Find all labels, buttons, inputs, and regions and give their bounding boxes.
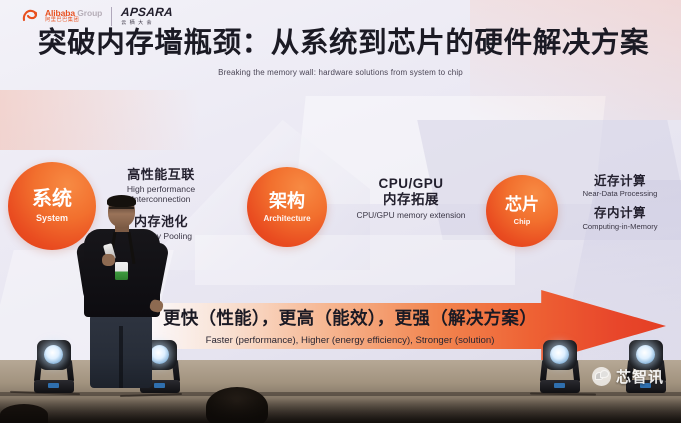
slide-subtitle: Breaking the memory wall: hardware solut… — [0, 68, 681, 77]
background-facet — [195, 235, 515, 285]
slide-title: 突破内存墙瓶颈：从系统到芯片的硬件解决方案 — [38, 27, 652, 61]
point-cn-line2: 内存拓展 — [337, 192, 485, 208]
spotlight-indicator — [48, 383, 59, 388]
alibaba-group-logo: Alibaba Group 阿里巴巴集团 — [22, 9, 102, 24]
brand-logo-row: Alibaba Group 阿里巴巴集团 APSARA 云栖大会 — [22, 4, 173, 28]
point-computing-in-memory: 存内计算 Computing-in-Memory — [560, 206, 680, 230]
alibaba-group-en: Group — [77, 8, 102, 18]
point-cn: 近存计算 — [560, 174, 680, 188]
spotlight-indicator — [554, 383, 565, 388]
stage-circle-architecture-en: Architecture — [263, 215, 310, 223]
point-en: Computing-in-Memory — [560, 222, 680, 231]
speaker-hair — [107, 195, 136, 207]
summary-arrow-banner — [146, 290, 666, 360]
wechat-bubble — [600, 370, 609, 378]
spotlight-lens-icon — [550, 345, 569, 364]
apsara-name-en: APSARA — [121, 6, 174, 18]
watermark-label: 芯智讯 — [616, 366, 664, 387]
speaker-presenter — [78, 196, 164, 386]
alibaba-wordmark: Alibaba Group 阿里巴巴集团 — [45, 9, 102, 24]
speaker-left-hand — [102, 254, 115, 266]
alibaba-name-cn: 阿里巴巴集团 — [45, 18, 102, 23]
stage-circle-chip-en: Chip — [514, 218, 531, 226]
point-en: CPU/GPU memory extension — [337, 210, 485, 220]
stage-circle-chip-cn: 芯片 — [505, 196, 539, 213]
stage-points-chip: 近存计算 Near-Data Processing 存内计算 Computing… — [560, 174, 680, 231]
stage-spotlight — [32, 338, 76, 394]
stage-circle-architecture-cn: 架构 — [269, 192, 305, 210]
background-facet — [0, 90, 200, 150]
stage-spotlight — [538, 338, 582, 394]
point-cn-line1: CPU/GPU — [337, 176, 485, 192]
stage-points-architecture: CPU/GPU 内存拓展 CPU/GPU memory extension — [337, 176, 485, 220]
point-cpu-gpu-memory-extension: CPU/GPU 内存拓展 CPU/GPU memory extension — [337, 176, 485, 220]
point-cn: 存内计算 — [560, 206, 680, 220]
apsara-name-cn: 云栖大会 — [121, 21, 173, 26]
logo-divider — [111, 7, 112, 26]
stage-circle-system-en: System — [36, 214, 68, 223]
point-en: Near-Data Processing — [560, 189, 680, 198]
alibaba-smile-icon — [22, 9, 41, 23]
bottom-vignette — [0, 398, 681, 423]
stage-circle-system-cn: 系统 — [32, 189, 72, 209]
speaker-glasses-icon — [109, 207, 134, 212]
stage-circle-architecture: 架构 Architecture — [247, 167, 327, 247]
point-cn: 高性能互联 — [97, 168, 225, 183]
apsara-conference-logo: APSARA 云栖大会 — [121, 6, 173, 26]
wechat-icon — [592, 367, 611, 386]
speaker-badge — [115, 262, 128, 280]
spotlight-lens-icon — [636, 345, 655, 364]
watermark: 芯智讯 — [592, 366, 664, 387]
point-near-data-processing: 近存计算 Near-Data Processing — [560, 174, 680, 198]
stage-circle-chip: 芯片 Chip — [486, 175, 558, 247]
spotlight-lens-icon — [44, 345, 63, 364]
speaker-leg-gap — [119, 326, 123, 388]
conference-photo: Alibaba Group 阿里巴巴集团 APSARA 云栖大会 突破内存墙瓶颈… — [0, 0, 681, 423]
